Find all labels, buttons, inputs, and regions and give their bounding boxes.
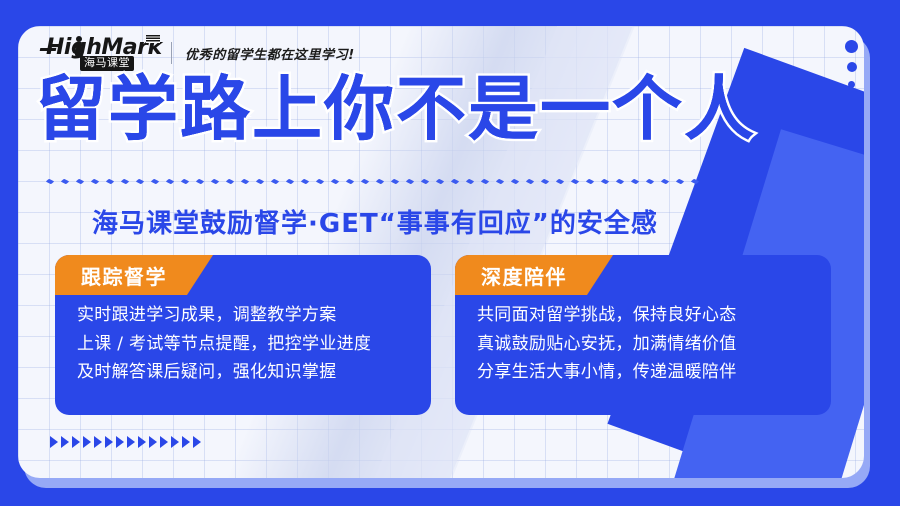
card-body: 共同面对留学挑战，保持良好心态 真诚鼓励贴心安抚，加满情绪价值 分享生活大事小情… <box>477 303 811 385</box>
brand-header: HighMark 海马课堂 优秀的留学生都在这里学习! <box>46 36 355 70</box>
card-body: 实时跟进学习成果，调整教学方案 上课 / 考试等节点提醒，把控学业进度 及时解答… <box>77 303 411 385</box>
slash-dash-icon <box>616 178 625 184</box>
slash-dash-icon <box>346 178 355 184</box>
arrow-right-icon <box>127 436 135 448</box>
decorative-dots <box>845 40 858 88</box>
slash-dash-icon <box>376 178 385 184</box>
feature-cards: 跟踪督学 实时跟进学习成果，调整教学方案 上课 / 考试等节点提醒，把控学业进度… <box>55 255 831 415</box>
slash-dash-icon <box>406 178 415 184</box>
arrow-right-icon <box>105 436 113 448</box>
card-tab-label: 深度陪伴 <box>481 261 567 290</box>
card-tab: 跟踪督学 <box>55 255 213 295</box>
header-divider <box>171 42 172 64</box>
slash-dash-icon <box>331 178 340 184</box>
slash-dash-icon <box>46 178 54 184</box>
arrow-right-icon <box>61 436 69 448</box>
feature-card: 跟踪督学 实时跟进学习成果，调整教学方案 上课 / 考试等节点提醒，把控学业进度… <box>55 255 431 415</box>
logo-tm-icon <box>146 35 160 43</box>
card-line: 共同面对留学挑战，保持良好心态 <box>477 303 811 328</box>
slash-dash-icon <box>676 178 685 184</box>
slash-dash-icon <box>241 178 250 184</box>
slash-dash-icon <box>481 178 490 184</box>
slash-dash-icon <box>661 178 670 184</box>
slash-dash-icon <box>571 178 580 184</box>
card-line: 真诚鼓励贴心安抚，加满情绪价值 <box>477 332 811 357</box>
slash-dash-icon <box>151 178 160 184</box>
arrow-right-icon <box>160 436 168 448</box>
arrow-right-icon <box>193 436 201 448</box>
slash-dash-icon <box>466 178 475 184</box>
slash-dash-icon <box>181 178 190 184</box>
highmark-logo: HighMark 海马课堂 <box>46 36 158 70</box>
slash-dash-icon <box>421 178 430 184</box>
dot-large-icon <box>845 40 858 53</box>
slash-dash-icon <box>121 178 130 184</box>
dot-medium-icon <box>847 62 857 72</box>
slash-dash-icon <box>226 178 235 184</box>
slash-dash-icon <box>526 178 535 184</box>
arrow-right-icon <box>94 436 102 448</box>
slash-dash-icon <box>556 178 565 184</box>
slash-dash-icon <box>316 178 325 184</box>
slash-dash-icon <box>211 178 220 184</box>
slash-dash-icon <box>286 178 295 184</box>
card-line: 实时跟进学习成果，调整教学方案 <box>77 303 411 328</box>
slash-dash-icon <box>361 178 370 184</box>
slash-dash-icon <box>511 178 520 184</box>
page-title: 留学路上你不是一个人 <box>36 74 756 144</box>
arrow-right-icon <box>72 436 80 448</box>
slash-dash-icon <box>691 178 700 184</box>
slash-dash-icon <box>391 178 400 184</box>
brand-tagline: 优秀的留学生都在这里学习! <box>185 44 355 63</box>
poster-canvas: HighMark 海马课堂 优秀的留学生都在这里学习! 留学路上你不是一个人 留… <box>0 0 900 506</box>
slash-dash-icon <box>301 178 310 184</box>
arrow-right-icon <box>171 436 179 448</box>
card-line: 上课 / 考试等节点提醒，把控学业进度 <box>77 332 411 357</box>
dashed-divider <box>46 174 836 188</box>
feature-card: 深度陪伴 共同面对留学挑战，保持良好心态 真诚鼓励贴心安抚，加满情绪价值 分享生… <box>455 255 831 415</box>
decorative-arrows <box>50 436 201 448</box>
page-subtitle: 海马课堂鼓励督学·GET“事事有回应”的安全感 <box>92 203 658 240</box>
slash-dash-icon <box>136 178 145 184</box>
slash-dash-icon <box>256 178 265 184</box>
slash-dash-icon <box>106 178 115 184</box>
arrow-right-icon <box>50 436 58 448</box>
card-tab: 深度陪伴 <box>455 255 613 295</box>
slash-dash-icon <box>166 178 175 184</box>
slash-dash-icon <box>631 178 640 184</box>
arrow-right-icon <box>116 436 124 448</box>
slash-dash-icon <box>271 178 280 184</box>
slash-dash-icon <box>496 178 505 184</box>
card-tab-label: 跟踪督学 <box>81 261 167 290</box>
slash-dash-icon <box>436 178 445 184</box>
dot-small-icon <box>848 81 855 88</box>
slash-dash-icon <box>601 178 610 184</box>
card-line: 及时解答课后疑问，强化知识掌握 <box>77 360 411 385</box>
slash-dash-icon <box>196 178 205 184</box>
slash-dash-icon <box>586 178 595 184</box>
card-line: 分享生活大事小情，传递温暖陪伴 <box>477 360 811 385</box>
arrow-right-icon <box>83 436 91 448</box>
slash-dash-icon <box>541 178 550 184</box>
arrow-right-icon <box>138 436 146 448</box>
arrow-right-icon <box>149 436 157 448</box>
slash-dash-icon <box>91 178 100 184</box>
slash-dash-icon <box>451 178 460 184</box>
slash-dash-icon <box>646 178 655 184</box>
slash-dash-icon <box>61 178 70 184</box>
arrow-right-icon <box>182 436 190 448</box>
slash-dash-icon <box>76 178 85 184</box>
